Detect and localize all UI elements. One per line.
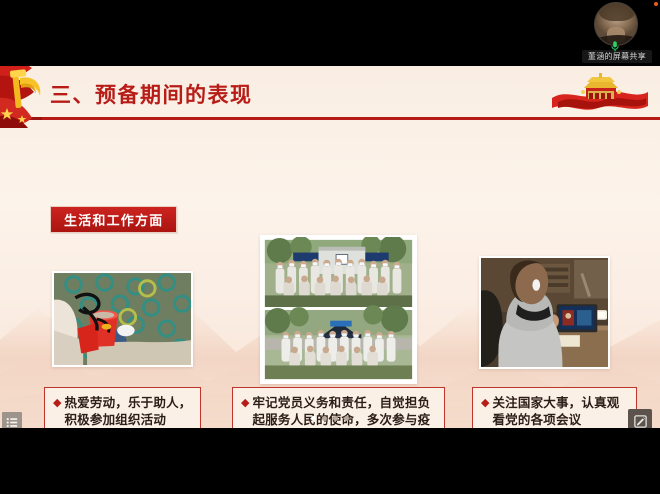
- pen-annotate-icon: [633, 414, 648, 429]
- photo-watching-meeting-image: [481, 258, 608, 367]
- caption-text-3: 关注国家大事，认真观看党的各项会议: [492, 394, 628, 428]
- pagination-dot-1[interactable]: [311, 416, 316, 421]
- photo-volunteer-group: [260, 235, 417, 384]
- page-title: 三、预备期间的表现: [50, 79, 253, 109]
- slide-header: 三、预备期间的表现: [0, 66, 660, 124]
- section-badge: 生活和工作方面: [50, 206, 177, 233]
- party-emblem-icon: [0, 66, 46, 130]
- meeting-top-bar: 董涵的屏幕共享: [0, 0, 660, 66]
- photo-litter-picking-image: [54, 273, 191, 365]
- caption-text-1: 热爱劳动，乐于助人，积极参加组织活动: [64, 394, 192, 428]
- recording-indicator-dot: [654, 2, 658, 6]
- slide-pagination[interactable]: [0, 416, 660, 421]
- avatar-hair: [599, 2, 635, 21]
- photo-volunteer-group-image: [262, 237, 415, 382]
- caption-box-3: ◆ 关注国家大事，认真观看党的各项会议: [472, 387, 637, 428]
- pagination-dot-3[interactable]: [333, 416, 338, 421]
- caption-box-1: ◆ 热爱劳动，乐于助人，积极参加组织活动: [44, 387, 201, 428]
- diamond-bullet-icon: ◆: [481, 394, 489, 411]
- screen-share-viewer: 董涵的屏幕共享: [0, 0, 660, 494]
- tiananmen-gate-icon: [548, 72, 652, 116]
- photo-litter-picking: [52, 271, 193, 367]
- shared-slide[interactable]: 三、预备期间的表现 生活和工作方面: [0, 66, 660, 428]
- header-rule: [42, 117, 660, 120]
- photo-watching-meeting: [479, 256, 610, 369]
- caption-box-2: ◆ 牢记党员义务和责任，自觉担负起服务人民的使命，多次参与疫情防控工作: [232, 387, 445, 428]
- self-video-thumbnail[interactable]: [594, 2, 638, 46]
- microphone-active-icon: [611, 41, 619, 52]
- pagination-dot-4[interactable]: [344, 416, 349, 421]
- diamond-bullet-icon: ◆: [241, 394, 249, 411]
- caption-text-2: 牢记党员义务和责任，自觉担负起服务人民的使命，多次参与疫情防控工作: [252, 394, 436, 428]
- diamond-bullet-icon: ◆: [53, 394, 61, 411]
- pagination-dot-2[interactable]: [322, 416, 327, 421]
- meeting-bottom-bar: [0, 428, 660, 494]
